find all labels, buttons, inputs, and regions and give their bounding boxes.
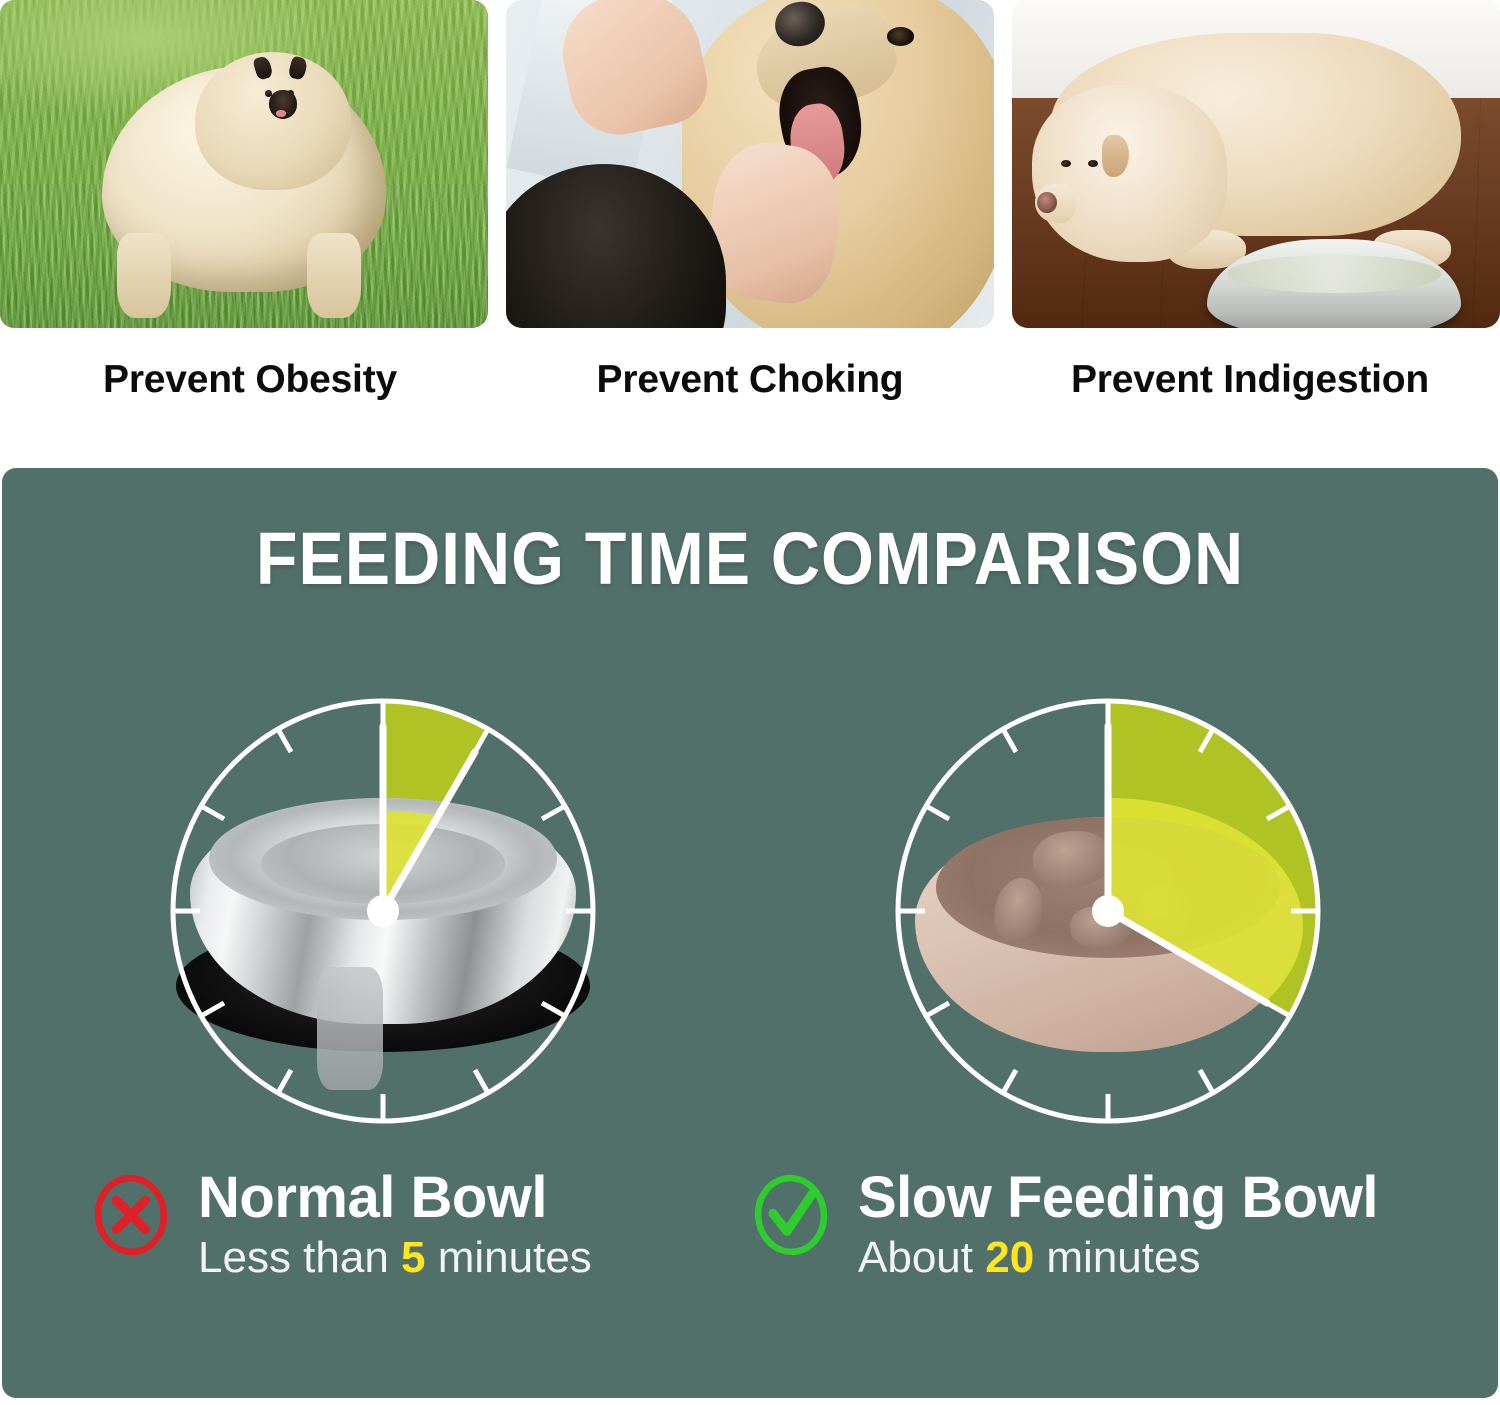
legend-subtitle-normal-bowl: Less than 5 minutes — [198, 1232, 592, 1283]
clock-dial-slow-feeding-bowl — [873, 676, 1343, 1146]
bowl-interior — [261, 824, 505, 904]
check-icon — [750, 1174, 832, 1256]
bowl-highlight — [317, 967, 383, 1089]
pug-ear-right — [288, 55, 308, 80]
benefit-photo-prevent-obesity — [0, 0, 488, 328]
labrador-eye-right — [1088, 160, 1098, 167]
legend-title-normal-bowl: Normal Bowl — [198, 1168, 592, 1228]
legend-sub-suffix: minutes — [426, 1233, 592, 1282]
labrador-eye-left — [1061, 160, 1071, 167]
pug-front-leg-right — [307, 233, 361, 318]
legend-normal-bowl: Normal Bowl Less than 5 minutes — [90, 1168, 592, 1283]
pug-head — [195, 52, 351, 190]
feeding-time-comparison-panel: FEEDING TIME COMPARISON — [2, 468, 1498, 1398]
slow-feeder-bowl-illustration — [873, 676, 1343, 1146]
legend-title-slow-feeding-bowl: Slow Feeding Bowl — [858, 1168, 1378, 1228]
benefit-photo-prevent-choking — [506, 0, 994, 328]
caption-prevent-choking: Prevent Choking — [500, 345, 1000, 415]
labrador-nose — [1037, 192, 1057, 213]
clock-comparison-row — [2, 676, 1498, 1146]
legend-slow-feeding-bowl: Slow Feeding Bowl About 20 minutes — [750, 1168, 1378, 1283]
benefit-captions-row: Prevent Obesity Prevent Choking Prevent … — [0, 345, 1500, 415]
pug-ear-left — [252, 55, 273, 80]
legend-minutes-value: 5 — [401, 1233, 425, 1282]
comparison-legend: Normal Bowl Less than 5 minutes Slow Fee… — [2, 1168, 1498, 1358]
pug-front-leg-left — [117, 233, 171, 318]
legend-sub-prefix: Less than — [198, 1233, 401, 1282]
labrador-ear — [1102, 135, 1129, 178]
benefit-photo-prevent-indigestion — [1012, 0, 1500, 328]
legend-minutes-value: 20 — [985, 1233, 1034, 1282]
stainless-steel-bowl-illustration — [148, 676, 618, 1146]
benefit-photo-strip — [0, 0, 1500, 328]
pug-tongue — [276, 110, 285, 116]
legend-subtitle-slow-feeding-bowl: About 20 minutes — [858, 1232, 1378, 1283]
labrador-head — [1032, 85, 1227, 262]
caption-prevent-obesity: Prevent Obesity — [0, 345, 500, 415]
legend-sub-prefix: About — [858, 1233, 985, 1282]
clock-dial-normal-bowl — [148, 676, 618, 1146]
retriever-eye — [887, 27, 914, 45]
page-title: FEEDING TIME COMPARISON — [62, 516, 1438, 601]
caption-prevent-indigestion: Prevent Indigestion — [1000, 345, 1500, 415]
slow-bowl-ridge-4 — [1070, 906, 1131, 948]
legend-sub-suffix: minutes — [1034, 1233, 1200, 1282]
cross-icon — [90, 1174, 172, 1256]
